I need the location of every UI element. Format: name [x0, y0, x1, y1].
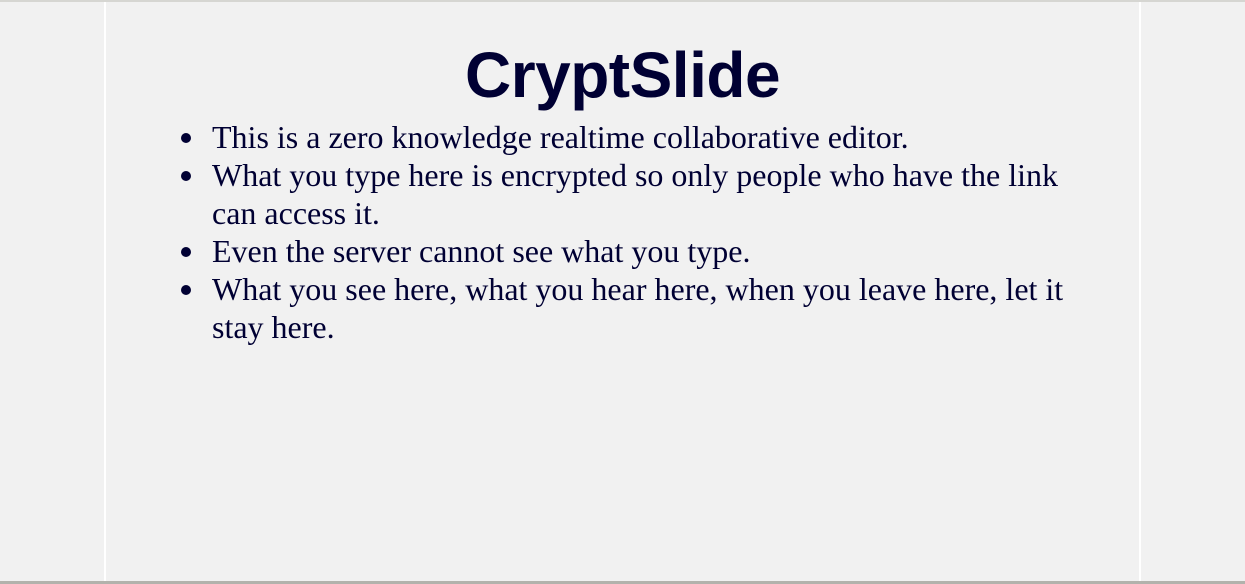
- right-gutter: [1139, 2, 1245, 581]
- slide-surface[interactable]: CryptSlide This is a zero knowledge real…: [106, 2, 1139, 581]
- left-gutter: [0, 2, 106, 581]
- page-title: CryptSlide: [140, 2, 1105, 107]
- bullet-point-icon: [181, 171, 191, 181]
- slide-viewport: CryptSlide This is a zero knowledge real…: [0, 0, 1245, 584]
- list-item: What you type here is encrypted so only …: [176, 156, 1105, 232]
- bullet-point-icon: [181, 247, 191, 257]
- list-item: Even the server cannot see what you type…: [176, 232, 1105, 270]
- list-item-text: What you see here, what you hear here, w…: [212, 270, 1105, 346]
- list-item: This is a zero knowledge realtime collab…: [176, 118, 1105, 156]
- bullet-point-icon: [181, 133, 191, 143]
- bullet-point-icon: [181, 285, 191, 295]
- list-item-text: Even the server cannot see what you type…: [212, 232, 1105, 270]
- slide-bullet-list: This is a zero knowledge realtime collab…: [140, 107, 1105, 346]
- list-item: What you see here, what you hear here, w…: [176, 270, 1105, 346]
- list-item-text: What you type here is encrypted so only …: [212, 156, 1105, 232]
- list-item-text: This is a zero knowledge realtime collab…: [212, 118, 1105, 156]
